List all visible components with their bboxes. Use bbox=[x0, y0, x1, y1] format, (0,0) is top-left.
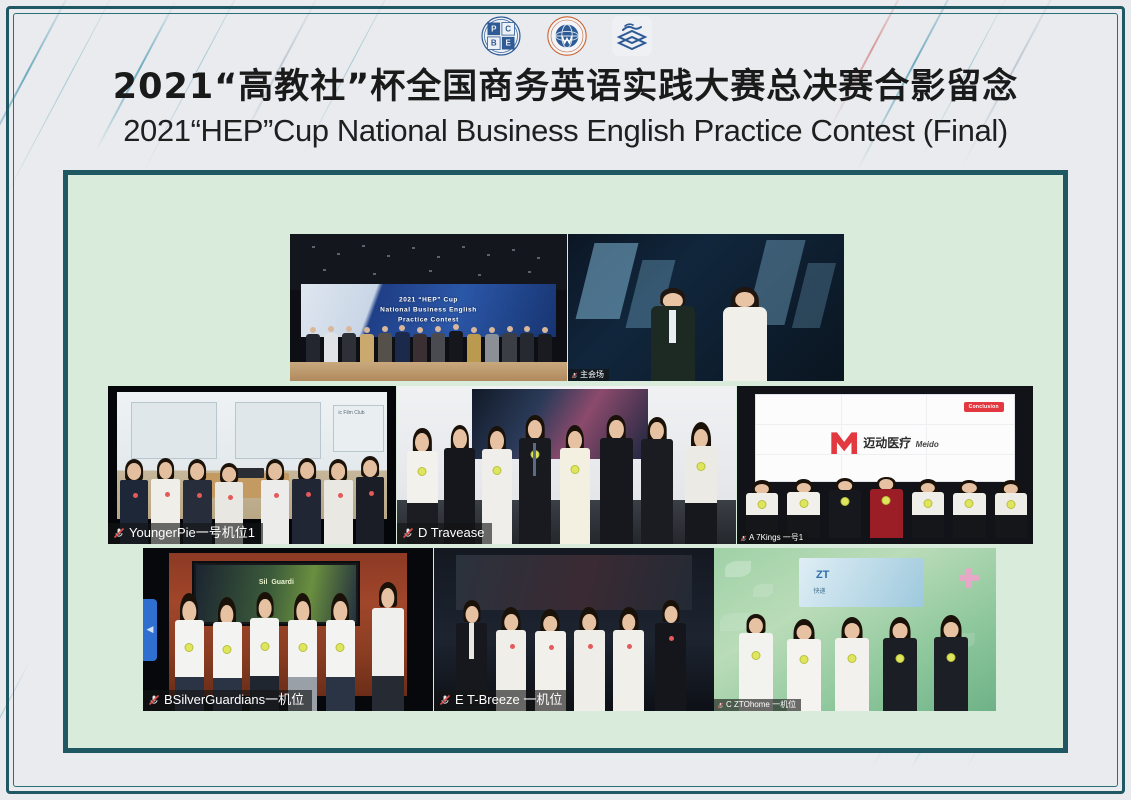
participant bbox=[600, 418, 632, 544]
tile-label-a-7kings: A 7Kings 一号1 bbox=[737, 532, 808, 544]
participant bbox=[372, 586, 404, 712]
youngerpie-scene: ic Film Club bbox=[108, 386, 396, 544]
tile-label-bsilverguardians: BSilverGuardians一机位 bbox=[143, 690, 312, 711]
svg-text:P: P bbox=[491, 24, 497, 33]
page-title-en: 2021“HEP”Cup National Business English P… bbox=[0, 112, 1131, 151]
poster-header: P C B E bbox=[0, 0, 1131, 151]
stage-scene: 2021 “HEP” Cup National Business English… bbox=[290, 234, 567, 381]
presentation-slide: Conclusion 迈动医疗 Meido bbox=[755, 394, 1015, 482]
kings-scene: Conclusion 迈动医疗 Meido bbox=[737, 386, 1033, 544]
meido-brand-cn: 迈动医疗 bbox=[863, 436, 911, 450]
silverguardians-scene: Sil Guardi bbox=[143, 548, 433, 711]
participant bbox=[829, 480, 862, 538]
prev-page-button[interactable]: ◀ bbox=[143, 599, 157, 661]
video-tile-hosts[interactable]: 主会场 bbox=[568, 234, 844, 381]
participant bbox=[739, 616, 773, 711]
ztohome-scene: ZT 快递 bbox=[714, 548, 996, 711]
participant bbox=[953, 481, 986, 537]
pcbe-logo-icon: P C B E bbox=[480, 15, 522, 57]
mic-muted-icon bbox=[717, 702, 724, 709]
participant bbox=[560, 427, 591, 544]
page-title-cn: 2021“高教社”杯全国商务英语实践大赛总决赛合影留念 bbox=[0, 66, 1131, 110]
host-female bbox=[723, 288, 767, 381]
participant bbox=[835, 620, 869, 711]
books-logo-icon bbox=[612, 16, 652, 56]
participant bbox=[912, 481, 945, 538]
mic-muted-icon bbox=[740, 535, 747, 542]
video-mosaic: 2021 “HEP” Cup National Business English… bbox=[68, 175, 1063, 748]
participant bbox=[261, 462, 290, 544]
zto-banner: ZT 快递 bbox=[799, 558, 923, 607]
video-tile-stage-ceremony[interactable]: 2021 “HEP” Cup National Business English… bbox=[290, 234, 567, 381]
participant bbox=[685, 424, 717, 544]
mic-muted-icon bbox=[571, 372, 578, 379]
meido-logo-icon bbox=[831, 432, 857, 454]
video-tile-youngerpie[interactable]: ic Film Club bbox=[108, 386, 396, 544]
participant bbox=[746, 482, 779, 538]
participant bbox=[292, 460, 321, 544]
video-tile-a-7kings[interactable]: Conclusion 迈动医疗 Meido bbox=[737, 386, 1033, 544]
participant bbox=[641, 419, 673, 544]
participant bbox=[883, 620, 917, 711]
tile-label-youngerpie: YoungerPie一号机位1 bbox=[108, 523, 263, 544]
video-tile-e-tbreeze[interactable]: E T-Breeze 一机位 bbox=[434, 548, 714, 711]
participant bbox=[787, 621, 821, 711]
stage-screen-line1: 2021 “HEP” Cup bbox=[380, 296, 477, 306]
mic-muted-icon bbox=[148, 694, 160, 706]
participant bbox=[326, 597, 355, 711]
video-tile-c-ztohome[interactable]: ZT 快递 bbox=[714, 548, 996, 711]
participant bbox=[934, 618, 968, 711]
travease-scene bbox=[397, 386, 736, 544]
hosts-scene bbox=[568, 234, 844, 381]
participant bbox=[324, 462, 353, 544]
logo-row: P C B E bbox=[0, 0, 1131, 58]
tile-label-d-travease: D Travease bbox=[397, 523, 492, 544]
participant bbox=[870, 478, 903, 537]
participant bbox=[356, 459, 385, 544]
participant bbox=[574, 610, 605, 711]
video-tile-d-travease[interactable]: D Travease bbox=[397, 386, 736, 544]
mic-muted-icon bbox=[402, 527, 414, 539]
meido-brand: 迈动医疗 Meido bbox=[831, 432, 939, 454]
conclusion-badge: Conclusion bbox=[964, 402, 1004, 412]
host-male bbox=[651, 290, 695, 381]
tile-label-c-ztohome: C ZTOhome 一机位 bbox=[714, 699, 801, 711]
mic-muted-icon bbox=[113, 527, 125, 539]
participant bbox=[519, 418, 551, 544]
svg-text:E: E bbox=[505, 39, 511, 48]
globe-logo-icon bbox=[546, 15, 588, 57]
participant bbox=[995, 482, 1028, 538]
tile-label-e-tbreeze: E T-Breeze 一机位 bbox=[434, 690, 570, 711]
meido-brand-en: Meido bbox=[916, 440, 939, 449]
cross-decoration bbox=[959, 568, 979, 588]
participant bbox=[787, 481, 820, 538]
svg-text:B: B bbox=[490, 39, 496, 48]
stage-screen-line2: National Business English bbox=[380, 306, 477, 316]
mic-muted-icon bbox=[439, 694, 451, 706]
content-panel: 2021 “HEP” Cup National Business English… bbox=[63, 170, 1068, 753]
participant bbox=[655, 603, 686, 711]
poster-root: P C B E bbox=[0, 0, 1131, 800]
tile-label-hosts: 主会场 bbox=[568, 369, 609, 381]
video-tile-bsilverguardians[interactable]: Sil Guardi bbox=[143, 548, 433, 711]
tbreeze-scene bbox=[434, 548, 714, 711]
svg-text:C: C bbox=[505, 24, 511, 33]
participant bbox=[613, 610, 644, 711]
ceremony-group bbox=[301, 324, 556, 362]
